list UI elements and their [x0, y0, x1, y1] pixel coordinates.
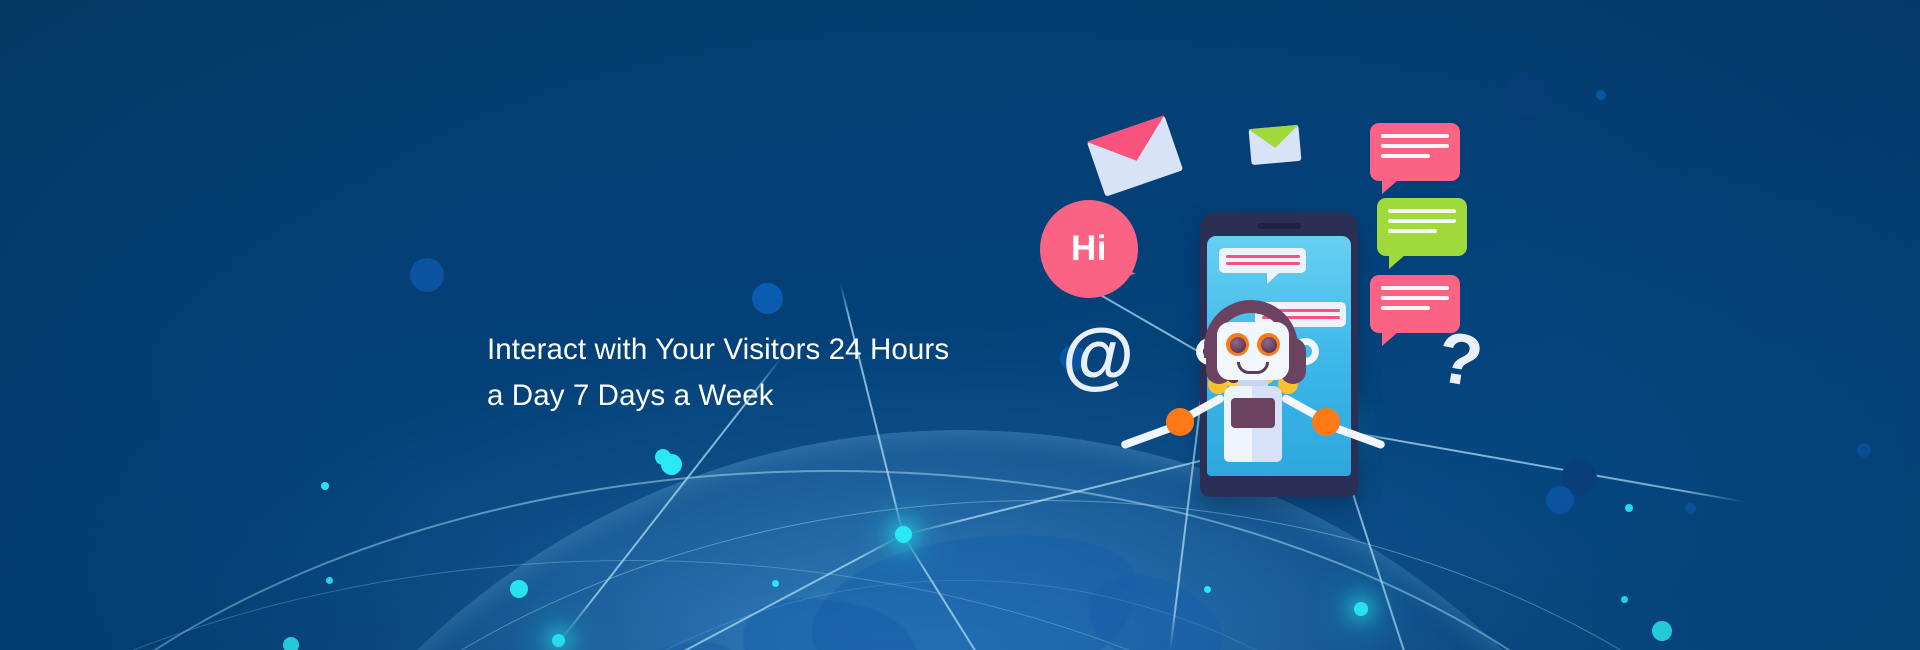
- bubble-text-line: [1381, 154, 1430, 158]
- robot-eye-right: [1257, 333, 1280, 356]
- bubble-text-line: [1381, 286, 1449, 290]
- robot-mouth: [1237, 362, 1269, 374]
- bubble-text-line: [1388, 219, 1456, 223]
- chat-bubble-pink-top: [1370, 123, 1460, 181]
- bubble-tail: [1382, 332, 1398, 346]
- hi-speech-bubble: Hi: [1040, 130, 1180, 320]
- robot-head: [1217, 322, 1289, 380]
- bubble-text-line: [1381, 144, 1449, 148]
- bubble-text-line: [1381, 306, 1430, 310]
- bubble-text-line: [1381, 134, 1449, 138]
- bubble-tail: [1389, 255, 1405, 269]
- screen-chat-bubble: [1219, 248, 1306, 273]
- chat-bubble-pink-bottom: [1370, 275, 1460, 333]
- robot-chest-panel: [1231, 398, 1275, 428]
- envelope-small-icon: [1249, 125, 1302, 165]
- bubble-tail: [1267, 273, 1279, 284]
- bubble-tail: [1382, 180, 1398, 194]
- hero-banner: Interact with Your Visitors 24 Hours a D…: [0, 0, 1920, 650]
- bubble-text-line: [1226, 262, 1300, 265]
- chat-bubble-green: [1377, 198, 1467, 256]
- page-title: Interact with Your Visitors 24 Hours a D…: [487, 327, 1047, 419]
- robot-shoulder-joint: [1312, 408, 1340, 436]
- bubble-text-line: [1226, 255, 1300, 258]
- envelope-flap: [1249, 125, 1301, 150]
- bubble-text-line: [1388, 229, 1437, 233]
- robot-mascot: [1160, 300, 1400, 480]
- bubble-text-line: [1388, 209, 1456, 213]
- hi-bubble-label: Hi: [1040, 200, 1138, 298]
- chatbot-illustration: Hi @ ?: [1040, 130, 1520, 530]
- phone-speaker-slot: [1257, 223, 1301, 229]
- at-symbol-icon: @: [1062, 318, 1134, 392]
- robot-shoulder-joint: [1166, 408, 1194, 436]
- robot-eye-left: [1226, 333, 1249, 356]
- background-vignette: [0, 0, 1920, 650]
- bubble-text-line: [1381, 296, 1449, 300]
